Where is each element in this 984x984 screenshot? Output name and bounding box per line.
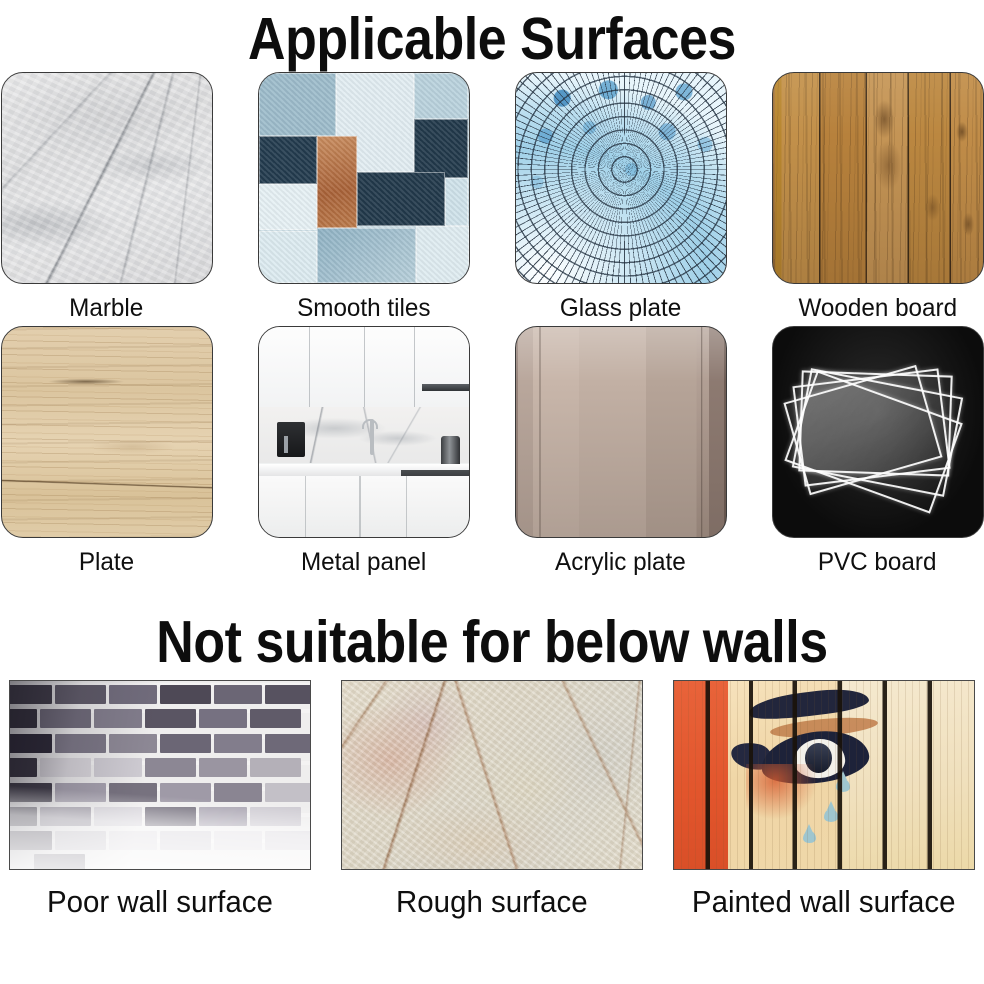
pvc-board-swatch-image bbox=[772, 326, 984, 538]
surface-label-glass-plate: Glass plate bbox=[560, 293, 681, 323]
unsuitable-label-painted-wall: Painted wall surface bbox=[692, 884, 956, 920]
tile-block bbox=[259, 136, 318, 184]
cabinet-seam bbox=[414, 327, 416, 407]
applicable-surfaces-row-2: Plate Metal panel Acrylic plate bbox=[0, 326, 984, 588]
surface-item-plate: Plate bbox=[0, 326, 213, 588]
surface-item-glass-plate: Glass plate bbox=[514, 72, 727, 326]
cabinet-seam bbox=[305, 476, 307, 537]
page-title-applicable-surfaces: Applicable Surfaces bbox=[59, 0, 925, 72]
poor-wall-photo bbox=[9, 680, 311, 870]
unsuitable-label-poor-wall: Poor wall surface bbox=[47, 884, 273, 920]
plate-swatch-image bbox=[1, 326, 213, 538]
glass-plate-swatch-image bbox=[515, 72, 727, 284]
unsuitable-item-painted-wall: Painted wall surface bbox=[670, 680, 978, 942]
surface-item-wooden-board: Wooden board bbox=[771, 72, 984, 326]
cabinet-seam bbox=[309, 327, 311, 407]
tile-block bbox=[414, 119, 469, 178]
tile-block-rust bbox=[317, 136, 357, 228]
surface-item-marble: Marble bbox=[0, 72, 213, 326]
tile-block bbox=[259, 73, 337, 136]
surface-item-smooth-tiles: Smooth tiles bbox=[257, 72, 470, 326]
tile-block bbox=[259, 184, 318, 230]
surface-label-pvc-board: PVC board bbox=[818, 547, 937, 577]
unsuitable-item-rough-surface: Rough surface bbox=[338, 680, 646, 942]
not-suitable-row: Poor wall surface Rough surface bbox=[0, 680, 984, 942]
brick-whitewash-overlay bbox=[10, 681, 310, 869]
unsuitable-item-poor-wall: Poor wall surface bbox=[6, 680, 314, 942]
rough-surface-photo bbox=[341, 680, 643, 870]
surface-label-smooth-tiles: Smooth tiles bbox=[297, 293, 430, 323]
tile-block bbox=[414, 73, 469, 119]
wooden-board-swatch-image bbox=[772, 72, 984, 284]
unsuitable-label-rough-surface: Rough surface bbox=[396, 884, 588, 920]
applicable-surfaces-row-1: Marble Smooth tiles Glass plate bbox=[0, 72, 984, 326]
surface-label-wooden-board: Wooden board bbox=[798, 293, 957, 323]
kitchen-faucet bbox=[370, 419, 375, 455]
kitchen-shelf bbox=[422, 384, 468, 391]
acrylic-plate-swatch-image bbox=[515, 326, 727, 538]
tile-block bbox=[317, 228, 416, 283]
tile-block bbox=[416, 226, 469, 283]
tile-block bbox=[445, 178, 468, 226]
page-title-not-suitable: Not suitable for below walls bbox=[59, 588, 925, 680]
surface-label-metal-panel: Metal panel bbox=[301, 547, 426, 577]
plank-gap-lines bbox=[674, 681, 974, 869]
kitchen-lower-cabinets bbox=[259, 476, 469, 537]
smooth-tiles-swatch-image bbox=[258, 72, 470, 284]
metal-panel-swatch-image bbox=[258, 326, 470, 538]
coffee-machine bbox=[277, 422, 304, 458]
tile-block bbox=[259, 231, 318, 284]
surface-label-acrylic-plate: Acrylic plate bbox=[555, 547, 686, 577]
painted-wall-photo bbox=[673, 680, 975, 870]
surface-item-pvc-board: PVC board bbox=[771, 326, 984, 588]
surface-stipple-overlay bbox=[342, 681, 642, 869]
marble-swatch-image bbox=[1, 72, 213, 284]
cabinet-seam bbox=[359, 476, 361, 537]
surface-item-acrylic-plate: Acrylic plate bbox=[514, 326, 727, 588]
cabinet-seam bbox=[406, 476, 408, 537]
surface-label-plate: Plate bbox=[79, 547, 134, 577]
surface-label-marble: Marble bbox=[69, 293, 143, 323]
surface-item-metal-panel: Metal panel bbox=[257, 326, 470, 588]
tile-block bbox=[357, 172, 445, 227]
glass-rib-grid bbox=[515, 72, 727, 284]
cabinet-seam bbox=[364, 327, 366, 407]
